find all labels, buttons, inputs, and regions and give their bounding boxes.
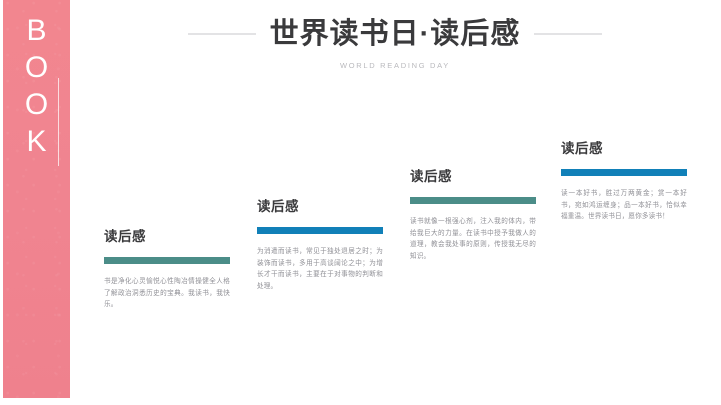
column-accent-bar xyxy=(561,169,687,176)
column-heading: 读后感 xyxy=(561,139,687,158)
content-column: 读后感 读书就像一根强心剂，注入我的体内，带给我巨大的力量。在读书中授予我做人的… xyxy=(410,167,536,262)
sidebar-book-label: B O O K xyxy=(3,12,70,160)
column-accent-bar xyxy=(104,257,230,264)
column-body-text: 书是净化心灵愉悦心性陶冶情操健全人格了解政治洞悉历史的宝典。我读书，我快乐。 xyxy=(104,276,230,311)
column-body-text: 读书就像一根强心剂，注入我的体内，带给我巨大的力量。在读书中授予我做人的道理，教… xyxy=(410,216,536,262)
header-block: 世界读书日·读后感 WORLD READING DAY xyxy=(160,14,630,71)
title-rule-left xyxy=(188,33,256,35)
slide-canvas: B O O K 世界读书日·读后感 WORLD READING DAY 读后感 … xyxy=(0,0,721,405)
column-heading: 读后感 xyxy=(257,197,383,216)
page-subtitle: WORLD READING DAY xyxy=(160,60,630,71)
column-accent-bar xyxy=(410,197,536,204)
content-column: 读后感 书是净化心灵愉悦心性陶冶情操健全人格了解政治洞悉历史的宝典。我读书，我快… xyxy=(104,227,230,311)
page-title: 世界读书日·读后感 xyxy=(270,14,521,54)
column-accent-bar xyxy=(257,227,383,234)
title-rule-right xyxy=(534,33,602,35)
sidebar-vertical-rule xyxy=(58,78,59,166)
sidebar-panel: B O O K xyxy=(3,0,70,398)
column-heading: 读后感 xyxy=(410,167,536,186)
column-body-text: 读一本好书，胜过万两黄金；赏一本好书，宛如鸿运缠身；品一本好书，恰似幸福重温。世… xyxy=(561,188,687,223)
column-body-text: 为消遣而读书，常见于独处退居之时；为装饰而读书，多用于高谈阔论之中；为增长才干而… xyxy=(257,246,383,292)
content-column: 读后感 为消遣而读书，常见于独处退居之时；为装饰而读书，多用于高谈阔论之中；为增… xyxy=(257,197,383,292)
content-column: 读后感 读一本好书，胜过万两黄金；赏一本好书，宛如鸿运缠身；品一本好书，恰似幸福… xyxy=(561,139,687,223)
column-heading: 读后感 xyxy=(104,227,230,246)
title-row: 世界读书日·读后感 xyxy=(160,14,630,54)
